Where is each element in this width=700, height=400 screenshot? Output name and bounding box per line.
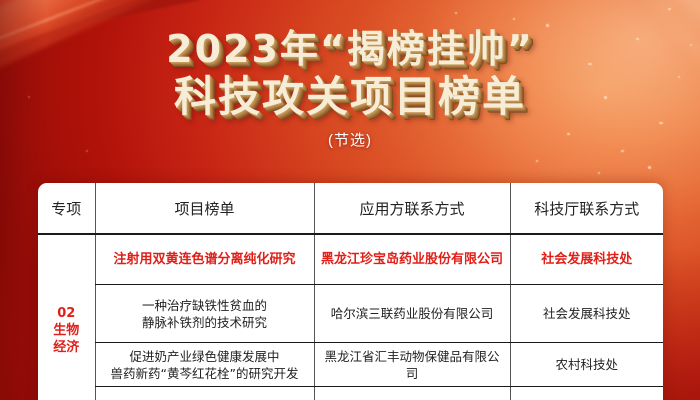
poster-subtitle: (节选): [0, 129, 700, 150]
cell-applicant: 黑龙江珍宝岛药业股份有限公司: [314, 234, 510, 285]
cell-department: 社会发展科技处: [510, 234, 663, 285]
cell-applicant: 哈尔滨三联药业股份有限公司: [314, 285, 510, 343]
title-line-2: 科技攻关项目榜单: [0, 74, 700, 120]
cell-project: 注射用双黄连色谱分离纯化研究: [95, 234, 314, 285]
cell-department: 农村科技处: [510, 343, 663, 387]
column-header-department: 科技厅联系方式: [510, 183, 663, 234]
project-line-2: 兽药新药“黄芩红花栓”的研究开发: [100, 365, 310, 382]
special-category-cell: 02 生物 经济: [38, 234, 95, 400]
project-line-1: 一种治疗缺铁性贫血的: [100, 297, 310, 314]
cell-project: 促进奶产业绿色健康发展中 兽药新药“黄芩红花栓”的研究开发: [95, 343, 314, 387]
listing-table-panel: 专项 项目榜单 应用方联系方式 科技厅联系方式 02 生物 经济 注射用双黄连色…: [38, 183, 663, 400]
cell-applicant: 黑龙江省汇丰动物保健品有限公司: [314, 343, 510, 387]
special-name-line-2: 经济: [42, 339, 91, 356]
cell-department: 社会发展科技处: [510, 285, 663, 343]
cell-project: [95, 387, 314, 400]
table-row: 一种治疗缺铁性贫血的 静脉补铁剂的技术研究 哈尔滨三联药业股份有限公司 社会发展…: [38, 285, 663, 343]
poster-root: 2023年“揭榜挂帅” 科技攻关项目榜单 (节选) 专项 项目榜单 应用方联系方…: [0, 0, 700, 400]
special-code: 02: [42, 305, 91, 322]
column-header-special: 专项: [38, 183, 95, 234]
special-name-line-1: 生物: [42, 322, 91, 339]
project-line-2: 静脉补铁剂的技术研究: [100, 314, 310, 331]
project-line-1: 促进奶产业绿色健康发展中: [100, 348, 310, 365]
table-header-row: 专项 项目榜单 应用方联系方式 科技厅联系方式: [38, 183, 663, 234]
column-header-applicant: 应用方联系方式: [314, 183, 510, 234]
column-header-project: 项目榜单: [95, 183, 314, 234]
table-row-partial: [38, 387, 663, 400]
cell-applicant: [314, 387, 510, 400]
title-line-1: 2023年“揭榜挂帅”: [0, 26, 700, 72]
project-listing-table: 专项 项目榜单 应用方联系方式 科技厅联系方式 02 生物 经济 注射用双黄连色…: [38, 183, 663, 400]
poster-title-block: 2023年“揭榜挂帅” 科技攻关项目榜单 (节选): [0, 26, 700, 150]
table-row: 促进奶产业绿色健康发展中 兽药新药“黄芩红花栓”的研究开发 黑龙江省汇丰动物保健…: [38, 343, 663, 387]
table-row: 02 生物 经济 注射用双黄连色谱分离纯化研究 黑龙江珍宝岛药业股份有限公司 社…: [38, 234, 663, 285]
cell-project: 一种治疗缺铁性贫血的 静脉补铁剂的技术研究: [95, 285, 314, 343]
project-line-1: 注射用双黄连色谱分离纯化研究: [100, 251, 310, 268]
cell-department: [510, 387, 663, 400]
